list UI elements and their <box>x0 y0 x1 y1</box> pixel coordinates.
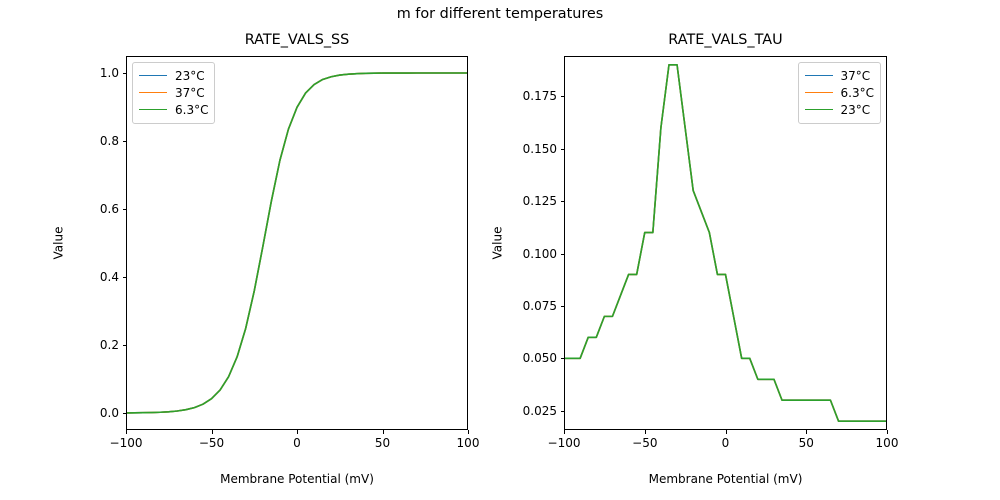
x-tickmark <box>645 430 646 434</box>
legend-label: 23°C <box>175 69 205 83</box>
y-tick-label: 0.6 <box>100 202 119 216</box>
x-tickmark <box>564 430 565 434</box>
x-tickmark <box>887 430 888 434</box>
y-tick-label: 0.8 <box>100 134 119 148</box>
y-tickmark <box>561 358 565 359</box>
x-tick-label: −50 <box>632 436 657 450</box>
axes-title-tau: RATE_VALS_TAU <box>564 32 887 48</box>
y-tick-label: 1.0 <box>100 66 119 80</box>
legend-entry[interactable]: 6.3°C <box>139 101 208 118</box>
x-tick-label: 100 <box>876 436 899 450</box>
y-tickmark <box>123 413 127 414</box>
legend-entry[interactable]: 23°C <box>805 101 874 118</box>
x-tick-label: −50 <box>199 436 224 450</box>
legend-tau[interactable]: 37°C6.3°C23°C <box>798 62 881 124</box>
y-tickmark <box>561 306 565 307</box>
x-tickmark <box>126 430 127 434</box>
legend-label: 6.3°C <box>175 103 208 117</box>
legend-swatch-icon <box>139 75 167 76</box>
y-tickmark <box>123 277 127 278</box>
x-tick-label: 100 <box>457 436 480 450</box>
y-tickmark <box>123 345 127 346</box>
y-tick-label: 0.150 <box>523 142 557 156</box>
legend-label: 23°C <box>841 103 871 117</box>
xlabel-tau: Membrane Potential (mV) <box>564 472 887 486</box>
y-tick-label: 0.050 <box>523 351 557 365</box>
x-tick-label: −100 <box>110 436 143 450</box>
axes-title-ss: RATE_VALS_SS <box>126 32 468 48</box>
x-tick-label: 0 <box>722 436 730 450</box>
x-tickmark <box>297 430 298 434</box>
axes-rate-vals-tau: RATE_VALS_TAU −100−500501000.0250.0500.0… <box>564 56 887 430</box>
legend-entry[interactable]: 37°C <box>805 67 874 84</box>
y-tickmark <box>561 201 565 202</box>
x-tick-label: −100 <box>548 436 581 450</box>
legend-entry[interactable]: 37°C <box>139 84 208 101</box>
y-tickmark <box>123 209 127 210</box>
legend-swatch-icon <box>805 75 833 76</box>
y-tickmark <box>561 149 565 150</box>
y-tick-label: 0.0 <box>100 406 119 420</box>
legend-swatch-icon <box>805 109 833 110</box>
x-tickmark <box>468 430 469 434</box>
axes-rate-vals-ss: RATE_VALS_SS −100−500501000.00.20.40.60.… <box>126 56 468 430</box>
y-tick-label: 0.100 <box>523 247 557 261</box>
legend-label: 37°C <box>841 69 871 83</box>
ylabel-ss: Value <box>51 227 65 260</box>
xlabel-ss: Membrane Potential (mV) <box>126 472 468 486</box>
figure-suptitle: m for different temperatures <box>0 6 1000 22</box>
legend-ss[interactable]: 23°C37°C6.3°C <box>132 62 215 124</box>
y-tick-label: 0.2 <box>100 338 119 352</box>
legend-swatch-icon <box>139 92 167 93</box>
legend-entry[interactable]: 23°C <box>139 67 208 84</box>
x-tickmark <box>383 430 384 434</box>
y-tick-label: 0.175 <box>523 89 557 103</box>
x-tickmark <box>212 430 213 434</box>
legend-swatch-icon <box>805 92 833 93</box>
x-tickmark <box>726 430 727 434</box>
legend-entry[interactable]: 6.3°C <box>805 84 874 101</box>
x-tick-label: 50 <box>799 436 814 450</box>
y-tick-label: 0.4 <box>100 270 119 284</box>
matplotlib-figure: m for different temperatures RATE_VALS_S… <box>0 0 1000 500</box>
y-tick-label: 0.075 <box>523 299 557 313</box>
y-tickmark <box>123 141 127 142</box>
legend-label: 6.3°C <box>841 86 874 100</box>
x-tick-label: 0 <box>293 436 301 450</box>
y-tickmark <box>561 96 565 97</box>
y-tickmark <box>561 411 565 412</box>
y-tickmark <box>561 254 565 255</box>
y-tickmark <box>123 73 127 74</box>
y-tick-label: 0.125 <box>523 194 557 208</box>
x-tickmark <box>806 430 807 434</box>
y-tick-label: 0.025 <box>523 404 557 418</box>
legend-swatch-icon <box>139 109 167 110</box>
ylabel-tau: Value <box>490 227 504 260</box>
legend-label: 37°C <box>175 86 205 100</box>
x-tick-label: 50 <box>375 436 390 450</box>
